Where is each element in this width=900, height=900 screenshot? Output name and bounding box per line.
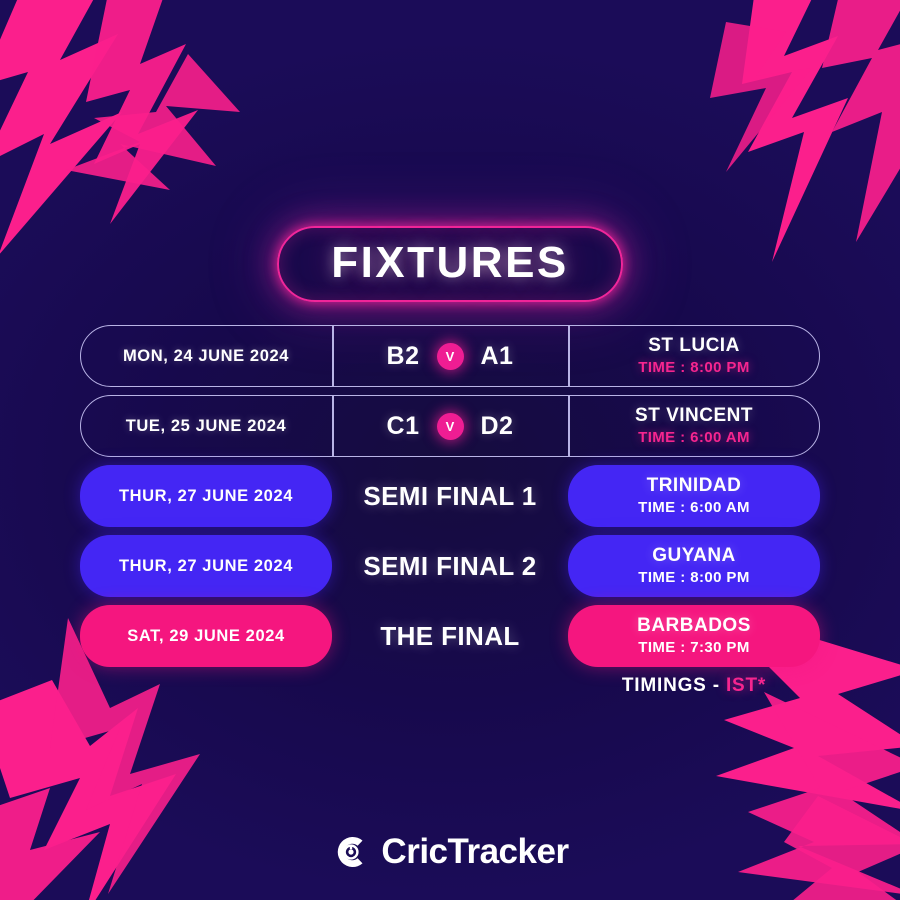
- fixture-venue-cell: GUYANA TIME : 8:00 PM: [568, 535, 820, 597]
- venue-time: TIME : 8:00 PM: [638, 569, 749, 587]
- timings-zone: IST*: [726, 675, 766, 696]
- row-divider: [332, 325, 334, 387]
- fixture-match-cell: SEMI FINAL 2: [332, 535, 568, 597]
- match-teams: B2 V A1: [387, 342, 514, 371]
- date-pill: THUR, 27 JUNE 2024: [80, 465, 332, 527]
- fixture-date: THUR, 27 JUNE 2024: [119, 557, 293, 576]
- timings-note: TIMINGS - IST*: [568, 675, 820, 697]
- timings-prefix: TIMINGS -: [622, 675, 726, 696]
- fixture-date-cell: THUR, 27 JUNE 2024: [80, 535, 332, 597]
- fixture-date: MON, 24 JUNE 2024: [123, 347, 289, 366]
- venue-block: ST VINCENT TIME : 6:00 AM: [635, 405, 753, 447]
- fixture-venue-cell: ST VINCENT TIME : 6:00 AM: [568, 395, 820, 457]
- table-row: THUR, 27 JUNE 2024 SEMI FINAL 1 TRINIDAD…: [80, 465, 820, 527]
- venue-time: TIME : 6:00 AM: [635, 429, 753, 447]
- date-pill: THUR, 27 JUNE 2024: [80, 535, 332, 597]
- row-divider: [332, 395, 334, 457]
- venue-pill: TRINIDAD TIME : 6:00 AM: [568, 465, 820, 527]
- venue-pill: GUYANA TIME : 8:00 PM: [568, 535, 820, 597]
- team-b-label: D2: [481, 412, 514, 441]
- row-divider: [568, 325, 570, 387]
- venue-name: ST LUCIA: [638, 335, 749, 357]
- venue-block: GUYANA TIME : 8:00 PM: [638, 545, 749, 587]
- stage-label: SEMI FINAL 2: [363, 551, 536, 582]
- date-pill: SAT, 29 JUNE 2024: [80, 605, 332, 667]
- fixture-date-cell: THUR, 27 JUNE 2024: [80, 465, 332, 527]
- table-row: TUE, 25 JUNE 2024 C1 V D2 ST VINCENT TIM…: [80, 395, 820, 457]
- versus-label: V: [446, 420, 455, 433]
- fixture-match-cell: C1 V D2: [332, 395, 568, 457]
- fixture-match-cell: SEMI FINAL 1: [332, 465, 568, 527]
- fixture-venue-cell: TRINIDAD TIME : 6:00 AM: [568, 465, 820, 527]
- fixture-match-cell: THE FINAL: [332, 605, 568, 667]
- team-a-label: C1: [387, 412, 420, 441]
- fixture-date-cell: TUE, 25 JUNE 2024: [80, 395, 332, 457]
- fixture-match-cell: B2 V A1: [332, 325, 568, 387]
- table-row: THUR, 27 JUNE 2024 SEMI FINAL 2 GUYANA T…: [80, 535, 820, 597]
- venue-time: TIME : 6:00 AM: [638, 499, 750, 517]
- versus-label: V: [446, 350, 455, 363]
- venue-name: GUYANA: [638, 545, 749, 567]
- fixture-date: TUE, 25 JUNE 2024: [126, 417, 287, 436]
- team-b-label: A1: [481, 342, 514, 371]
- row-divider: [568, 395, 570, 457]
- fixture-date-cell: SAT, 29 JUNE 2024: [80, 605, 332, 667]
- venue-block: TRINIDAD TIME : 6:00 AM: [638, 475, 750, 517]
- fixture-venue-cell: BARBADOS TIME : 7:30 PM: [568, 605, 820, 667]
- brand-name: CricTracker: [381, 832, 568, 872]
- brand-logo: CricTracker: [0, 832, 900, 872]
- fixture-date: SAT, 29 JUNE 2024: [127, 627, 285, 646]
- fixture-venue-cell: ST LUCIA TIME : 8:00 PM: [568, 325, 820, 387]
- venue-name: TRINIDAD: [638, 475, 750, 497]
- venue-block: ST LUCIA TIME : 8:00 PM: [638, 335, 749, 377]
- fixtures-title-pill: FIXTURES: [277, 226, 623, 302]
- stage-label: THE FINAL: [380, 621, 519, 652]
- venue-name: BARBADOS: [637, 615, 751, 637]
- match-teams: C1 V D2: [387, 412, 514, 441]
- fixtures-table: MON, 24 JUNE 2024 B2 V A1 ST LUCIA TIME …: [80, 325, 820, 675]
- title-container: FIXTURES: [0, 226, 900, 302]
- versus-badge-icon: V: [437, 413, 464, 440]
- venue-pill: BARBADOS TIME : 7:30 PM: [568, 605, 820, 667]
- stage-label: SEMI FINAL 1: [363, 481, 536, 512]
- crictracker-logo-icon: [331, 832, 371, 872]
- fixtures-poster: FIXTURES MON, 24 JUNE 2024 B2 V A1: [0, 0, 900, 900]
- table-row: MON, 24 JUNE 2024 B2 V A1 ST LUCIA TIME …: [80, 325, 820, 387]
- page-title: FIXTURES: [331, 241, 569, 285]
- table-row: SAT, 29 JUNE 2024 THE FINAL BARBADOS TIM…: [80, 605, 820, 667]
- venue-name: ST VINCENT: [635, 405, 753, 427]
- team-a-label: B2: [387, 342, 420, 371]
- venue-time: TIME : 7:30 PM: [637, 639, 751, 657]
- versus-badge-icon: V: [437, 343, 464, 370]
- venue-time: TIME : 8:00 PM: [638, 359, 749, 377]
- venue-block: BARBADOS TIME : 7:30 PM: [637, 615, 751, 657]
- fixture-date: THUR, 27 JUNE 2024: [119, 487, 293, 506]
- fixture-date-cell: MON, 24 JUNE 2024: [80, 325, 332, 387]
